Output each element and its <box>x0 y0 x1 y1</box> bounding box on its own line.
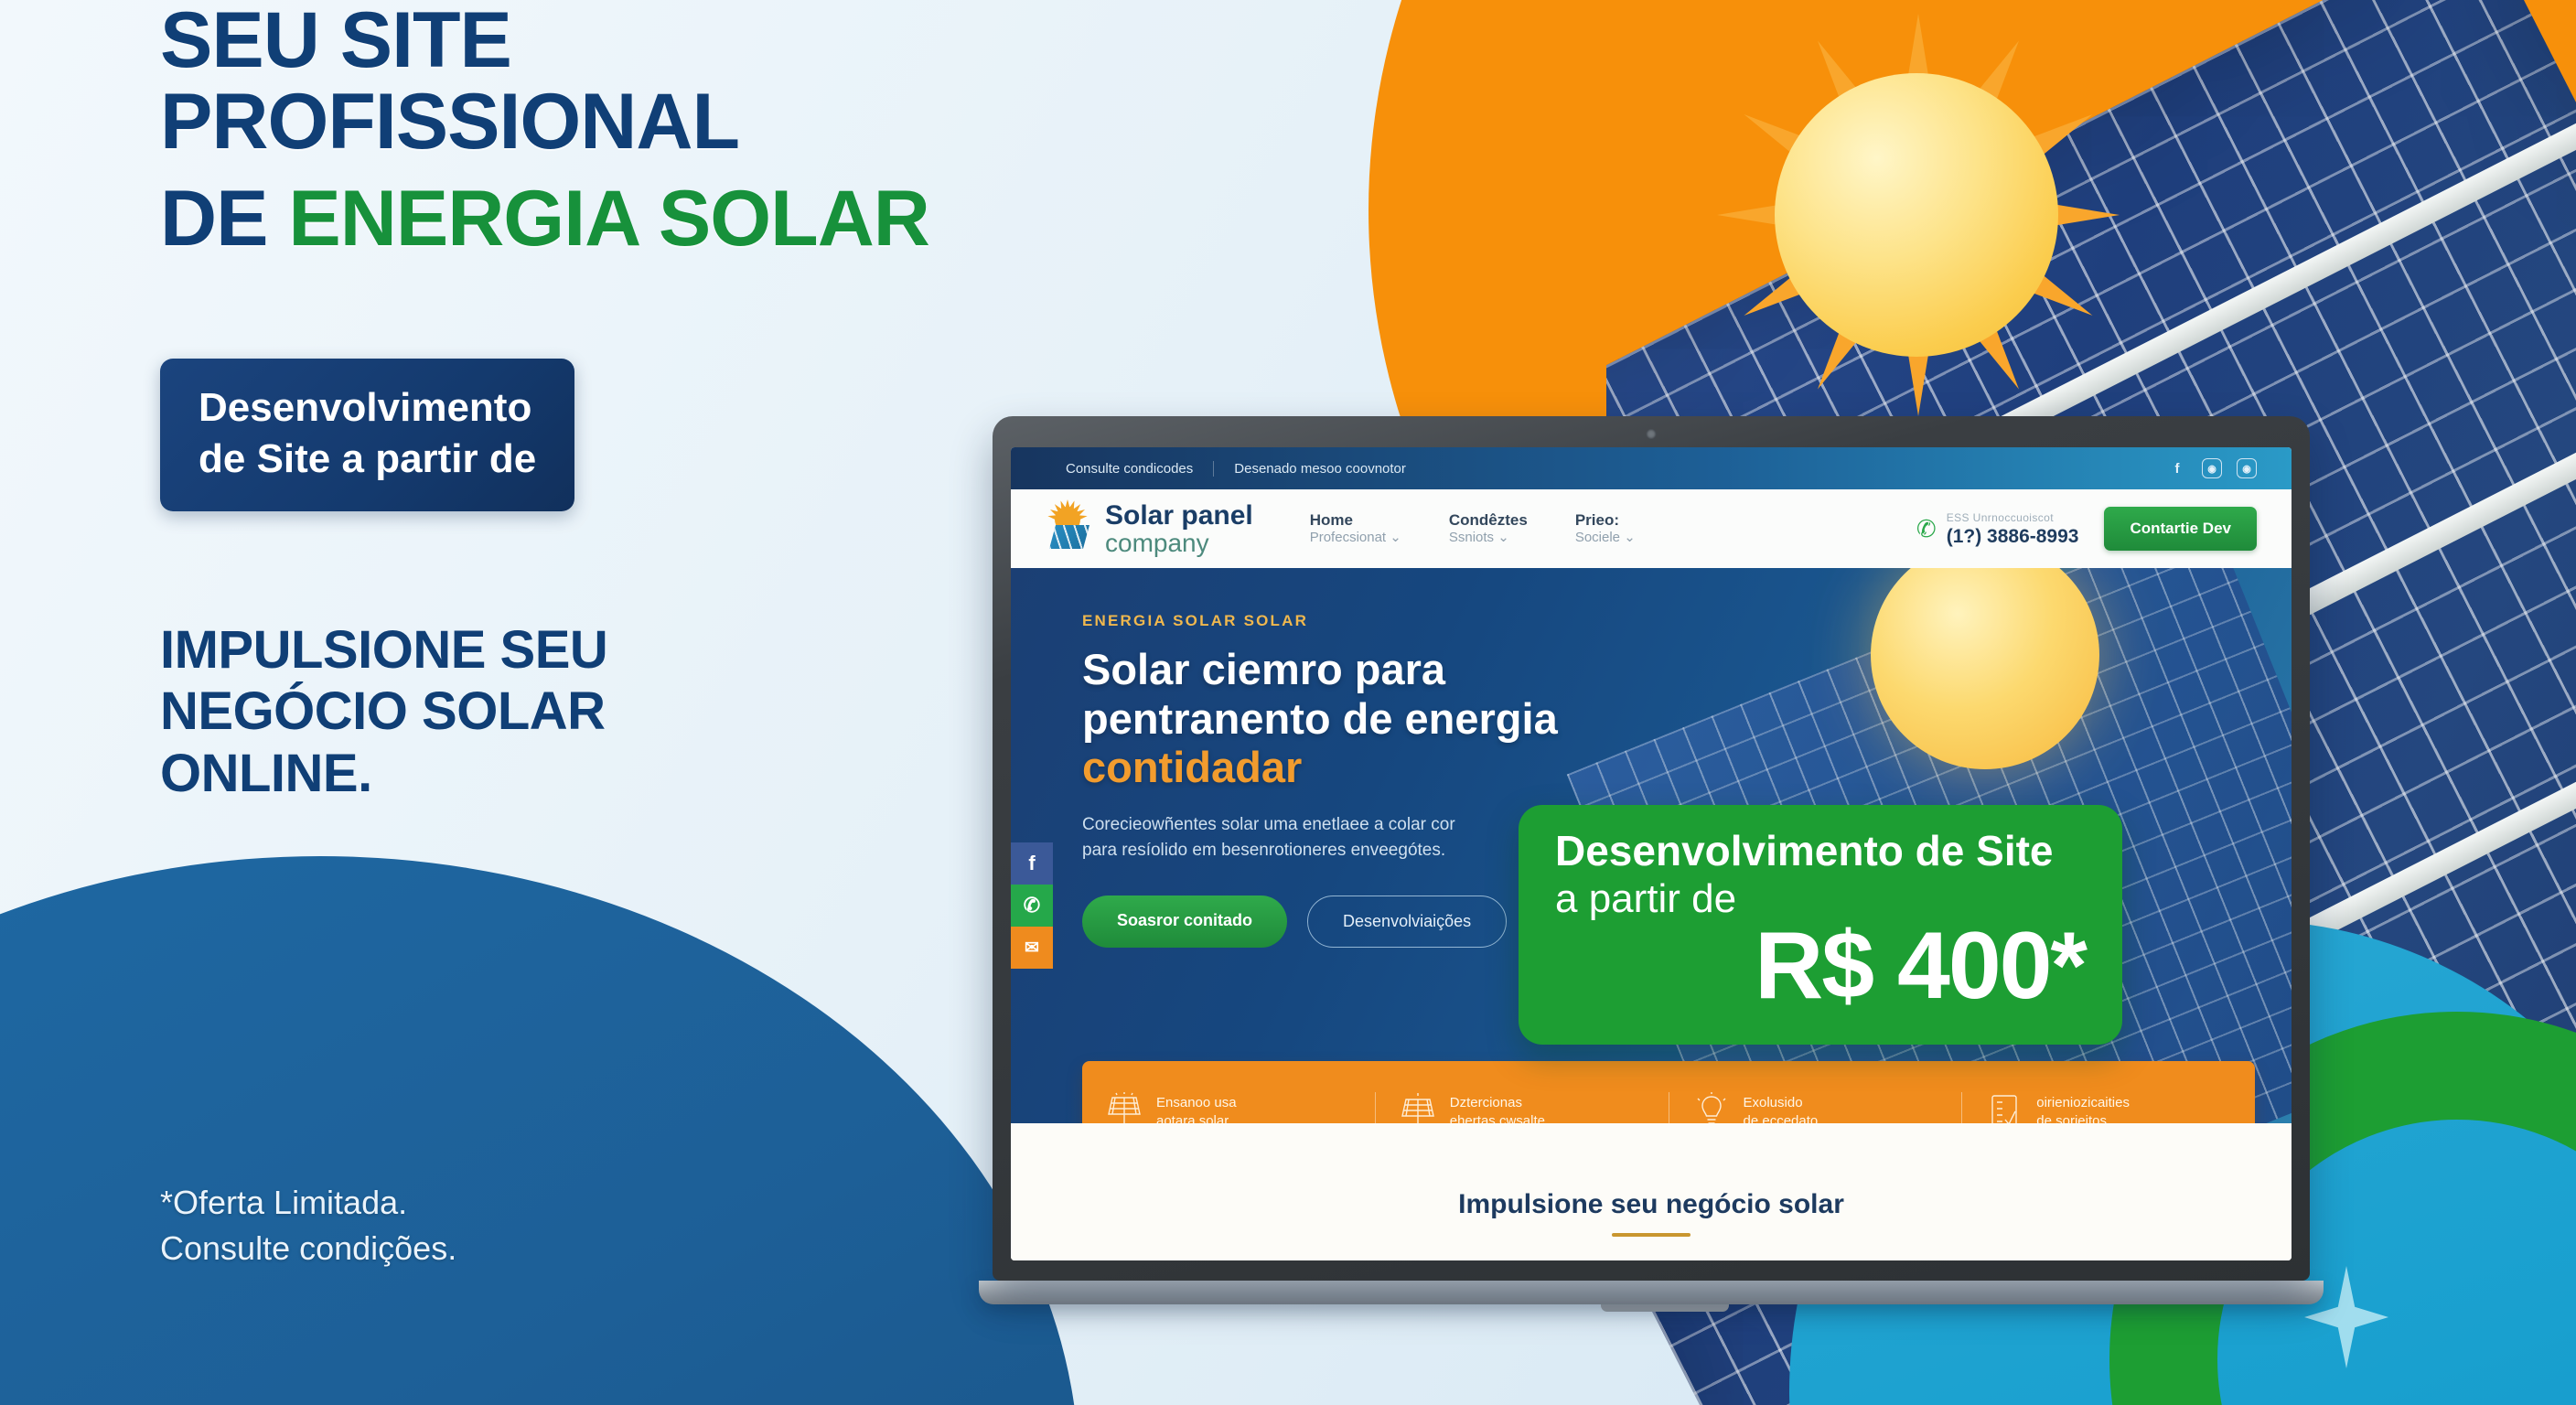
hero-title-line-1: Solar ciemro para <box>1082 645 1651 694</box>
page-title: SEU SITE PROFISSIONAL DE ENERGIA SOLAR <box>160 0 1075 260</box>
left-copy-block: SEU SITE PROFISSIONAL DE ENERGIA SOLAR D… <box>160 0 1075 804</box>
laptop-notch <box>1601 1304 1729 1312</box>
social-rail: f ✆ ✉ <box>1011 842 1053 969</box>
nav-item-1-title: Home <box>1310 511 1401 530</box>
site-header: Solar panel company Home Profecsionat ⌄ … <box>1011 489 2292 568</box>
feature-4-line-1: oirieniozicaities <box>2036 1094 2130 1112</box>
feature-3-line-1: Exolusido <box>1744 1094 1819 1112</box>
phone-icon: ✆ <box>1916 515 1937 543</box>
topbar-social-icons: f ◉ ◉ <box>2167 458 2257 478</box>
hero-paragraph-line-2: para resíolido em besenrotioneres enveeg… <box>1082 838 1594 864</box>
feature-1-line-2: aotara solar <box>1156 1112 1237 1123</box>
phone-number: (1?) 3886-8993 <box>1947 526 2079 547</box>
solar-logo-icon <box>1046 507 1093 551</box>
webcam-icon <box>1647 429 1657 439</box>
feature-item[interactable]: Ensanoo usa aotara solar <box>1082 1092 1375 1123</box>
nav-item-2-title: Condêztes <box>1449 511 1528 530</box>
nav-item-1[interactable]: Home Profecsionat ⌄ <box>1310 511 1401 546</box>
header-cta-button[interactable]: Contartie Dev <box>2104 507 2257 551</box>
offer-badge-line-2: de Site a partir de <box>199 434 536 484</box>
chevron-down-icon: ⌄ <box>1624 530 1636 545</box>
feature-3-line-2: de eccedato <box>1744 1112 1819 1123</box>
chevron-down-icon: ⌄ <box>1497 530 1509 545</box>
nav-item-1-sub: Profecsionat ⌄ <box>1310 530 1401 546</box>
instagram-icon[interactable]: ◉ <box>2202 458 2222 478</box>
hero-title: Solar ciemro para pentranento de energia… <box>1082 645 1651 792</box>
nav-item-3-sub: Sociele ⌄ <box>1575 530 1636 546</box>
hero-primary-button[interactable]: Soasror conitado <box>1082 896 1287 948</box>
fineprint: *Oferta Limitada. Consulte condições. <box>160 1180 456 1271</box>
header-phone[interactable]: ✆ ESS Unrnoccuoiscot (1?) 3886-8993 <box>1916 509 2079 548</box>
subheadline-line-3: ONLINE. <box>160 743 1075 804</box>
topbar-link-1[interactable]: Consulte condicodes <box>1046 461 1213 477</box>
checklist-icon <box>1986 1092 2023 1123</box>
sun-icon <box>1724 23 2109 407</box>
feature-4-line-2: de sorieitos <box>2036 1112 2130 1123</box>
subheadline-line-1: IMPULSIONE SEU <box>160 619 1075 681</box>
headline-line-2-green: ENERGIA SOLAR <box>288 175 929 263</box>
lightbulb-icon <box>1693 1092 1730 1123</box>
nav-item-3-title: Prieo: <box>1575 511 1636 530</box>
chevron-down-icon: ⌄ <box>1390 530 1401 545</box>
site-footer: Impulsione seu negócio solar <box>1011 1123 2292 1260</box>
offer-badge-line-1: Desenvolvimento <box>199 382 536 433</box>
fineprint-line-1: *Oferta Limitada. <box>160 1180 456 1226</box>
solar-panel-icon <box>1106 1092 1143 1123</box>
feature-item[interactable]: oirieniozicaities de sorieitos <box>1961 1092 2255 1123</box>
logo-text-line-1: Solar panel <box>1105 501 1253 530</box>
facebook-icon[interactable]: f <box>1011 842 1053 885</box>
footer-title: Impulsione seu negócio solar <box>1458 1189 1844 1220</box>
solar-panel-icon <box>1400 1092 1436 1123</box>
offer-badge: Desenvolvimento de Site a partir de <box>160 359 574 511</box>
features-strip: Ensanoo usa aotara solar <box>1082 1061 2255 1123</box>
laptop-base <box>979 1281 2324 1304</box>
price-badge-line-1: Desenvolvimento de Site <box>1555 829 2086 873</box>
headline-line-1: SEU SITE PROFISSIONAL <box>160 0 739 166</box>
feature-item[interactable]: Exolusido de eccedato <box>1669 1092 1962 1123</box>
nav-item-2-sub: Ssniots ⌄ <box>1449 530 1528 546</box>
footer-rule <box>1612 1233 1690 1237</box>
hero-paragraph: Corecieowñentes solar uma enetlaee a col… <box>1082 812 1594 864</box>
site-logo[interactable]: Solar panel company <box>1046 501 1253 556</box>
email-icon[interactable]: ✉ <box>1011 927 1053 969</box>
subheadline-line-2: NEGÓCIO SOLAR <box>160 681 1075 742</box>
hero-eyebrow: ENERGIA SOLAR SOLAR <box>1082 612 1651 630</box>
feature-2-line-2: ehertas cwsalte <box>1450 1112 1545 1123</box>
subheadline: IMPULSIONE SEU NEGÓCIO SOLAR ONLINE. <box>160 619 1075 804</box>
hero-title-line-2: pentranento de energia <box>1082 694 1651 744</box>
headline-line-2-prefix: DE <box>160 175 288 263</box>
feature-1-line-1: Ensanoo usa <box>1156 1094 1237 1112</box>
topbar-link-2[interactable]: Desenado mesoo coovnotor <box>1213 461 1426 477</box>
price-badge-value: R$ 400* <box>1555 918 2086 1014</box>
fineprint-line-2: Consulte condições. <box>160 1226 456 1271</box>
hero-secondary-button[interactable]: Desenvolviaições <box>1307 896 1507 948</box>
youtube-icon[interactable]: ◉ <box>2237 458 2257 478</box>
nav-item-2[interactable]: Condêztes Ssniots ⌄ <box>1449 511 1528 546</box>
hero-paragraph-line-1: Corecieowñentes solar uma enetlaee a col… <box>1082 812 1594 839</box>
facebook-icon[interactable]: f <box>2167 458 2187 478</box>
hero-title-accent: contidadar <box>1082 743 1651 792</box>
site-nav: Home Profecsionat ⌄ Condêztes Ssniots ⌄ … <box>1310 511 1636 546</box>
topbar-links: Consulte condicodes Desenado mesoo coovn… <box>1046 461 1426 477</box>
nav-item-3[interactable]: Prieo: Sociele ⌄ <box>1575 511 1636 546</box>
site-topbar: Consulte condicodes Desenado mesoo coovn… <box>1011 447 2292 489</box>
banner-canvas: SEU SITE PROFISSIONAL DE ENERGIA SOLAR D… <box>0 0 2576 1405</box>
logo-text-line-2: company <box>1105 530 1253 556</box>
price-badge: Desenvolvimento de Site a partir de R$ 4… <box>1519 805 2122 1045</box>
feature-2-line-1: Dztercionas <box>1450 1094 1545 1112</box>
whatsapp-icon[interactable]: ✆ <box>1011 885 1053 927</box>
phone-label: ESS Unrnoccuoiscot <box>1947 511 2054 524</box>
feature-item[interactable]: Dztercionas ehertas cwsalte <box>1375 1092 1669 1123</box>
